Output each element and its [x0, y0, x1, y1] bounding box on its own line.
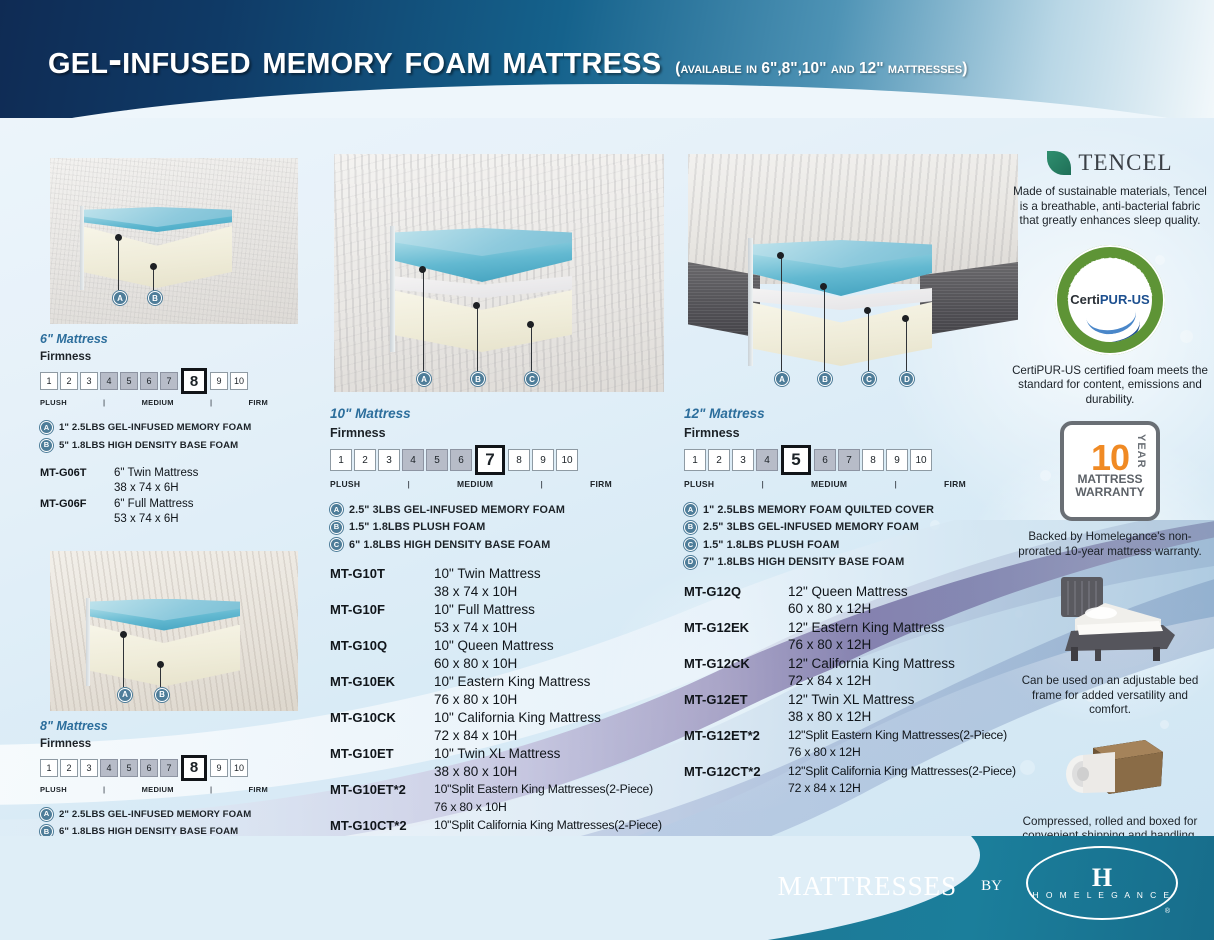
- layer-badge-b-icon: B: [684, 521, 697, 534]
- sku-dimensions: 60 x 80 x 10H: [434, 655, 554, 673]
- firmness-cell-3[interactable]: 3: [80, 759, 98, 777]
- firmness-cell-7[interactable]: 7: [160, 372, 178, 390]
- sku-name: 12" Queen Mattress: [788, 584, 908, 599]
- warranty-line2: WARRANTY: [1075, 486, 1144, 499]
- firmness-cell-3[interactable]: 3: [378, 449, 400, 471]
- sku-row: MT-G12CT*212"Split California King Mattr…: [684, 763, 1029, 798]
- footer-wordmark: Mattresses: [778, 861, 958, 905]
- sku-code: MT-G12EK: [684, 619, 788, 654]
- sku-name: 10" Twin Mattress: [434, 566, 541, 581]
- sku-dimensions: 76 x 80 x 10H: [434, 799, 653, 817]
- sku-code: MT-G10ET*2: [330, 781, 434, 816]
- layer-marker-b: B: [148, 291, 162, 305]
- tick-medium-6: MEDIUM: [142, 398, 174, 407]
- layer-row: A2.5" 3LBS GEL-INFUSED MEMORY FOAM: [330, 503, 675, 516]
- layer-row: C6" 1.8LBS HIGH DENSITY BASE FOAM: [330, 538, 675, 551]
- tick-mark-8-1: |: [67, 785, 142, 794]
- tick-mark-12-1: |: [714, 479, 811, 489]
- certipur-wordmark: CertiPUR-US: [1070, 292, 1149, 307]
- firmness-cell-2[interactable]: 2: [60, 372, 78, 390]
- sku-dimensions: 76 x 80 x 10H: [434, 691, 590, 709]
- tick-medium-12: MEDIUM: [811, 479, 847, 489]
- mattress-8-image: A B: [40, 545, 305, 717]
- sku-description: 12" Twin XL Mattress38 x 80 x 12H: [788, 691, 914, 726]
- firmness-cell-3[interactable]: 3: [80, 372, 98, 390]
- firmness-scale-6[interactable]: 12345678910: [40, 368, 320, 394]
- firmness-cell-4[interactable]: 4: [402, 449, 424, 471]
- warranty-year-label: YEAR: [1135, 434, 1147, 469]
- sku-row: MT-G06F6" Full Mattress53 x 74 x 6H: [40, 497, 320, 527]
- sku-dimensions: 38 x 80 x 10H: [434, 763, 560, 781]
- certipur-inner: CertiPUR-US: [1068, 258, 1152, 342]
- certipur-description: CertiPUR-US certified foam meets the sta…: [1012, 364, 1208, 408]
- sku-row: MT-G10ET*210"Split Eastern King Mattress…: [330, 781, 675, 816]
- sku-description: 12" California King Mattress72 x 84 x 12…: [788, 655, 955, 690]
- sku-description: 12"Split California King Mattresses(2-Pi…: [788, 763, 1016, 798]
- layer-text: 1" 2.5LBS GEL-INFUSED MEMORY FOAM: [59, 422, 251, 433]
- sku-row: MT-G10ET10" Twin XL Mattress38 x 80 x 10…: [330, 745, 675, 780]
- mattress-12-heading: 12" Mattress: [684, 406, 1029, 421]
- layer-badge-d-icon: D: [684, 556, 697, 569]
- mattress-10-heading: 10" Mattress: [330, 406, 675, 421]
- tick-firm-12: FIRM: [944, 479, 966, 489]
- firmness-cell-4[interactable]: 4: [100, 372, 118, 390]
- page-title: Gel-Infused Memory Foam Mattress: [48, 36, 661, 83]
- firmness-cell-7[interactable]: 7: [838, 449, 860, 471]
- layer-badge-a-icon: A: [40, 808, 53, 821]
- layer-marker-a: A: [113, 291, 127, 305]
- layer-badge-a-icon: A: [330, 503, 343, 516]
- tick-mark-6-2: |: [174, 398, 249, 407]
- sku-name: 10" Queen Mattress: [434, 638, 554, 653]
- sku-code: MT-G10T: [330, 565, 434, 600]
- layer-legend-12: A1" 2.5LBS MEMORY FOAM QUILTED COVERB2.5…: [684, 503, 1029, 569]
- page-footer: Mattresses by H H O M E L E G A N C E ®: [0, 836, 1214, 940]
- layer-legend-6: A1" 2.5LBS GEL-INFUSED MEMORY FOAMB5" 1.…: [40, 421, 320, 452]
- sku-row: MT-G12CK12" California King Mattress72 x…: [684, 655, 1029, 690]
- firmness-cell-2[interactable]: 2: [354, 449, 376, 471]
- sku-description: 10" Full Mattress53 x 74 x 10H: [434, 601, 535, 636]
- firmness-cell-8[interactable]: 8: [508, 449, 530, 471]
- layer-row: C1.5" 1.8LBS PLUSH FOAM: [684, 538, 1029, 551]
- page-header: Gel-Infused Memory Foam Mattress (Availa…: [0, 0, 1214, 118]
- sku-description: 10" California King Mattress72 x 84 x 10…: [434, 709, 601, 744]
- firmness-cell-1[interactable]: 1: [330, 449, 352, 471]
- firmness-cell-9[interactable]: 9: [210, 759, 228, 777]
- layer-marker-c: C: [862, 372, 876, 386]
- tick-plush-10: PLUSH: [330, 479, 360, 489]
- firmness-cell-4[interactable]: 4: [756, 449, 778, 471]
- sku-name: 12"Split California King Mattresses(2-Pi…: [788, 764, 1016, 778]
- firmness-cell-9[interactable]: 9: [532, 449, 554, 471]
- tick-medium-10: MEDIUM: [457, 479, 493, 489]
- layer-text: 1.5" 1.8LBS PLUSH FOAM: [703, 539, 839, 551]
- layer-row: A1" 2.5LBS MEMORY FOAM QUILTED COVER: [684, 503, 1029, 516]
- firmness-scale-12[interactable]: 12345678910: [684, 445, 1029, 475]
- sku-description: 6" Full Mattress53 x 74 x 6H: [114, 497, 194, 527]
- mattress-6-heading: 6" Mattress: [40, 332, 320, 346]
- certipur-word-b: PUR-US: [1100, 292, 1150, 307]
- layer-badge-b-icon: B: [330, 521, 343, 534]
- sku-row: MT-G12Q12" Queen Mattress60 x 80 x 12H: [684, 583, 1029, 618]
- sku-name: 10" Eastern King Mattress: [434, 674, 590, 689]
- firmness-cell-5[interactable]: 5: [120, 759, 138, 777]
- homelegance-logo: H H O M E L E G A N C E ®: [1026, 846, 1178, 920]
- tick-firm-10: FIRM: [590, 479, 612, 489]
- tencel-wordmark: TENCEL: [1078, 150, 1172, 176]
- tick-plush-6: PLUSH: [40, 398, 67, 407]
- firmness-cell-10[interactable]: 10: [910, 449, 932, 471]
- firmness-cell-9[interactable]: 9: [886, 449, 908, 471]
- sku-description: 10" Twin XL Mattress38 x 80 x 10H: [434, 745, 560, 780]
- firmness-cell-6[interactable]: 6: [140, 759, 158, 777]
- tick-plush-12: PLUSH: [684, 479, 714, 489]
- sku-name: 10" California King Mattress: [434, 710, 601, 725]
- sku-dimensions: 72 x 84 x 12H: [788, 672, 955, 690]
- sku-name: 10"Split Eastern King Mattresses(2-Piece…: [434, 782, 653, 796]
- firmness-label-12: Firmness: [684, 426, 1029, 440]
- tencel-description: Made of sustainable materials, Tencel is…: [1012, 185, 1208, 229]
- mattress-6-info: 6" Mattress Firmness 12345678910 PLUSH |…: [40, 332, 320, 527]
- layer-badge-a-icon: A: [684, 503, 697, 516]
- layer-marker-a: A: [417, 372, 431, 386]
- layer-row: B1.5" 1.8LBS PLUSH FOAM: [330, 521, 675, 534]
- layer-text: 2.5" 3LBS GEL-INFUSED MEMORY FOAM: [349, 504, 565, 516]
- column-left: A B 6" Mattress Firmness 12345678910 PLU…: [40, 150, 320, 940]
- firmness-cell-6[interactable]: 6: [814, 449, 836, 471]
- sku-name: 10" Full Mattress: [434, 602, 535, 617]
- sku-code: MT-G12CT*2: [684, 763, 788, 798]
- firmness-cell-8[interactable]: 8: [862, 449, 884, 471]
- warranty-number: 10: [1091, 443, 1129, 473]
- tick-firm-6: FIRM: [248, 398, 268, 407]
- layer-marker-d: D: [900, 372, 914, 386]
- sku-code: MT-G10Q: [330, 637, 434, 672]
- layer-text: 7" 1.8LBS HIGH DENSITY BASE FOAM: [703, 556, 904, 568]
- firmness-cell-1[interactable]: 1: [40, 759, 58, 777]
- sku-row: MT-G12EK12" Eastern King Mattress76 x 80…: [684, 619, 1029, 654]
- firmness-scale-10[interactable]: 12345678910: [330, 445, 675, 475]
- sku-row: MT-G10EK10" Eastern King Mattress76 x 80…: [330, 673, 675, 708]
- warranty-badge: YEAR 10 MATTRESS WARRANTY: [1060, 421, 1160, 521]
- sku-description: 12" Queen Mattress60 x 80 x 12H: [788, 583, 908, 618]
- layer-badge-c-icon: C: [684, 538, 697, 551]
- layer-text: 1" 2.5LBS MEMORY FOAM QUILTED COVER: [703, 504, 934, 516]
- homelegance-registered-mark: ®: [1165, 908, 1170, 915]
- sku-name: 12" California King Mattress: [788, 656, 955, 671]
- layer-marker-b: B: [155, 688, 169, 702]
- firmness-cell-2[interactable]: 2: [708, 449, 730, 471]
- sku-code: MT-G10CK: [330, 709, 434, 744]
- sku-code: MT-G10EK: [330, 673, 434, 708]
- sku-row: MT-G10T10" Twin Mattress38 x 74 x 10H: [330, 565, 675, 600]
- sku-row: MT-G06T6" Twin Mattress38 x 74 x 6H: [40, 466, 320, 496]
- layer-marker-b: B: [471, 372, 485, 386]
- sku-dimensions: 38 x 80 x 12H: [788, 708, 914, 726]
- tick-mark-6-1: |: [67, 398, 142, 407]
- sku-dimensions: 38 x 74 x 10H: [434, 583, 541, 601]
- firmness-cell-6[interactable]: 6: [450, 449, 472, 471]
- homelegance-name: H O M E L E G A N C E: [1033, 890, 1172, 900]
- sku-dimensions: 60 x 80 x 12H: [788, 600, 908, 618]
- firmness-cell-10[interactable]: 10: [230, 372, 248, 390]
- column-10-inch: A B C 10" Mattress Firmness 12345678910 …: [330, 150, 675, 853]
- sku-row: MT-G12ET12" Twin XL Mattress38 x 80 x 12…: [684, 691, 1029, 726]
- sku-list-6: MT-G06T6" Twin Mattress38 x 74 x 6HMT-G0…: [40, 466, 320, 527]
- layer-row: D7" 1.8LBS HIGH DENSITY BASE FOAM: [684, 556, 1029, 569]
- sku-dimensions: 76 x 80 x 12H: [788, 636, 944, 654]
- sku-name: 6" Twin Mattress: [114, 467, 198, 479]
- sku-dimensions: 76 x 80 x 12H: [788, 744, 1007, 762]
- sku-name: 6" Full Mattress: [114, 498, 194, 510]
- column-certifications: TENCEL Made of sustainable materials, Te…: [1012, 150, 1208, 844]
- firmness-cell-10[interactable]: 10: [230, 759, 248, 777]
- firmness-cell-8[interactable]: 8: [181, 755, 207, 781]
- firmness-label-8: Firmness: [40, 738, 320, 750]
- layer-row: B2.5" 3LBS GEL-INFUSED MEMORY FOAM: [684, 521, 1029, 534]
- firmness-cell-4[interactable]: 4: [100, 759, 118, 777]
- sku-description: 12"Split Eastern King Mattresses(2-Piece…: [788, 727, 1007, 762]
- firmness-cell-5[interactable]: 5: [781, 445, 811, 475]
- sku-code: MT-G10F: [330, 601, 434, 636]
- header-curve: [0, 84, 1214, 118]
- firmness-cell-6[interactable]: 6: [140, 372, 158, 390]
- homelegance-letter: H: [1092, 867, 1112, 889]
- firmness-cell-1[interactable]: 1: [40, 372, 58, 390]
- certipur-word-a: Certi: [1070, 292, 1100, 307]
- leaf-icon: [1047, 151, 1071, 175]
- adjustable-bed-description: Can be used on an adjustable bed frame f…: [1012, 674, 1208, 718]
- sku-name: 10"Split California King Mattresses(2-Pi…: [434, 818, 662, 832]
- sku-description: 10" Twin Mattress38 x 74 x 10H: [434, 565, 541, 600]
- sku-name: 12" Twin XL Mattress: [788, 692, 914, 707]
- layer-marker-c: C: [525, 372, 539, 386]
- layer-row: A1" 2.5LBS GEL-INFUSED MEMORY FOAM: [40, 421, 320, 434]
- sku-dimensions: 38 x 74 x 6H: [114, 481, 198, 496]
- firmness-cell-8[interactable]: 8: [181, 368, 207, 394]
- tick-mark-10-1: |: [360, 479, 457, 489]
- layer-badge-b-icon: B: [40, 439, 53, 452]
- sku-list-10: MT-G10T10" Twin Mattress38 x 74 x 10HMT-…: [330, 565, 675, 852]
- firmness-cell-1[interactable]: 1: [684, 449, 706, 471]
- page-subtitle: (Available in 6",8",10" and 12" Mattress…: [675, 60, 967, 78]
- column-12-inch: A B C D 12" Mattress Firmness 1234567891…: [684, 150, 1029, 799]
- sku-row: MT-G10F10" Full Mattress53 x 74 x 10H: [330, 601, 675, 636]
- firmness-scale-8[interactable]: 12345678910: [40, 755, 320, 781]
- firmness-label-6: Firmness: [40, 351, 320, 363]
- mattress-10-image: A B C: [330, 150, 670, 398]
- firmness-cell-2[interactable]: 2: [60, 759, 78, 777]
- firmness-label-10: Firmness: [330, 426, 675, 440]
- sku-name: 12"Split Eastern King Mattresses(2-Piece…: [788, 728, 1007, 742]
- sku-description: 10"Split Eastern King Mattresses(2-Piece…: [434, 781, 653, 816]
- tick-mark-8-2: |: [174, 785, 249, 794]
- tick-medium-8: MEDIUM: [142, 785, 174, 794]
- sku-code: MT-G12CK: [684, 655, 788, 690]
- sku-code: MT-G12ET*2: [684, 727, 788, 762]
- layer-row: A2" 2.5LBS GEL-INFUSED MEMORY FOAM: [40, 808, 320, 821]
- sku-description: 12" Eastern King Mattress76 x 80 x 12H: [788, 619, 944, 654]
- sku-description: 6" Twin Mattress38 x 74 x 6H: [114, 466, 198, 496]
- sku-list-12: MT-G12Q12" Queen Mattress60 x 80 x 12HMT…: [684, 583, 1029, 798]
- firmness-cell-7[interactable]: 7: [160, 759, 178, 777]
- layer-badge-c-icon: C: [330, 538, 343, 551]
- sku-description: 10" Queen Mattress60 x 80 x 10H: [434, 637, 554, 672]
- sku-code: MT-G12Q: [684, 583, 788, 618]
- sku-row: MT-G12ET*212"Split Eastern King Mattress…: [684, 727, 1029, 762]
- sku-name: 12" Eastern King Mattress: [788, 620, 944, 635]
- tick-mark-10-2: |: [493, 479, 590, 489]
- firmness-cell-3[interactable]: 3: [732, 449, 754, 471]
- mattress-6-image: A B: [40, 150, 305, 328]
- layer-marker-a: A: [775, 372, 789, 386]
- layer-row: B5" 1.8LBS HIGH DENSITY BASE FOAM: [40, 439, 320, 452]
- sku-row: MT-G10CK10" California King Mattress72 x…: [330, 709, 675, 744]
- firmness-cell-10[interactable]: 10: [556, 449, 578, 471]
- boxed-shipping-image: [1049, 734, 1171, 806]
- layer-marker-a: A: [118, 688, 132, 702]
- firmness-cell-5[interactable]: 5: [426, 449, 448, 471]
- footer-by: by: [981, 871, 1002, 896]
- sku-name: 10" Twin XL Mattress: [434, 746, 560, 761]
- layer-badge-a-icon: A: [40, 421, 53, 434]
- sku-dimensions: 53 x 74 x 10H: [434, 619, 535, 637]
- brochure-page: Gel-Infused Memory Foam Mattress (Availa…: [0, 0, 1214, 940]
- layer-text: 1.5" 1.8LBS PLUSH FOAM: [349, 521, 485, 533]
- tick-plush-8: PLUSH: [40, 785, 67, 794]
- mattress-12-info: 12" Mattress Firmness 12345678910 PLUSH …: [684, 406, 1029, 798]
- certipur-seal: CERTIFIED FLEXIBLE POLYURETHANE FOAM WWW…: [1055, 245, 1165, 355]
- tencel-logo: TENCEL: [1012, 150, 1208, 176]
- tick-firm-8: FIRM: [248, 785, 268, 794]
- layer-text: 2" 2.5LBS GEL-INFUSED MEMORY FOAM: [59, 809, 251, 820]
- layer-legend-8: A2" 2.5LBS GEL-INFUSED MEMORY FOAMB6" 1.…: [40, 808, 320, 839]
- layer-text: 5" 1.8LBS HIGH DENSITY BASE FOAM: [59, 440, 238, 451]
- mattress-10-info: 10" Mattress Firmness 12345678910 PLUSH …: [330, 406, 675, 852]
- sku-row: MT-G10Q10" Queen Mattress60 x 80 x 10H: [330, 637, 675, 672]
- mattress-8-heading: 8" Mattress: [40, 719, 320, 733]
- adjustable-bed-image: [1035, 573, 1185, 665]
- layer-marker-b: B: [818, 372, 832, 386]
- sku-dimensions: 72 x 84 x 10H: [434, 727, 601, 745]
- sku-code: MT-G06T: [40, 466, 114, 496]
- sku-code: MT-G12ET: [684, 691, 788, 726]
- layer-legend-10: A2.5" 3LBS GEL-INFUSED MEMORY FOAMB1.5" …: [330, 503, 675, 551]
- mattress-12-image: A B C D: [684, 150, 1024, 398]
- sku-dimensions: 72 x 84 x 12H: [788, 780, 1016, 798]
- sku-code: MT-G10ET: [330, 745, 434, 780]
- layer-text: 6" 1.8LBS HIGH DENSITY BASE FOAM: [349, 539, 550, 551]
- sku-dimensions: 53 x 74 x 6H: [114, 512, 194, 527]
- sku-code: MT-G06F: [40, 497, 114, 527]
- firmness-cell-9[interactable]: 9: [210, 372, 228, 390]
- firmness-cell-7[interactable]: 7: [475, 445, 505, 475]
- layer-text: 2.5" 3LBS GEL-INFUSED MEMORY FOAM: [703, 521, 919, 533]
- warranty-description: Backed by Homelegance's non-prorated 10-…: [1012, 530, 1208, 559]
- tick-mark-12-2: |: [847, 479, 944, 489]
- firmness-cell-5[interactable]: 5: [120, 372, 138, 390]
- sku-description: 10" Eastern King Mattress76 x 80 x 10H: [434, 673, 590, 708]
